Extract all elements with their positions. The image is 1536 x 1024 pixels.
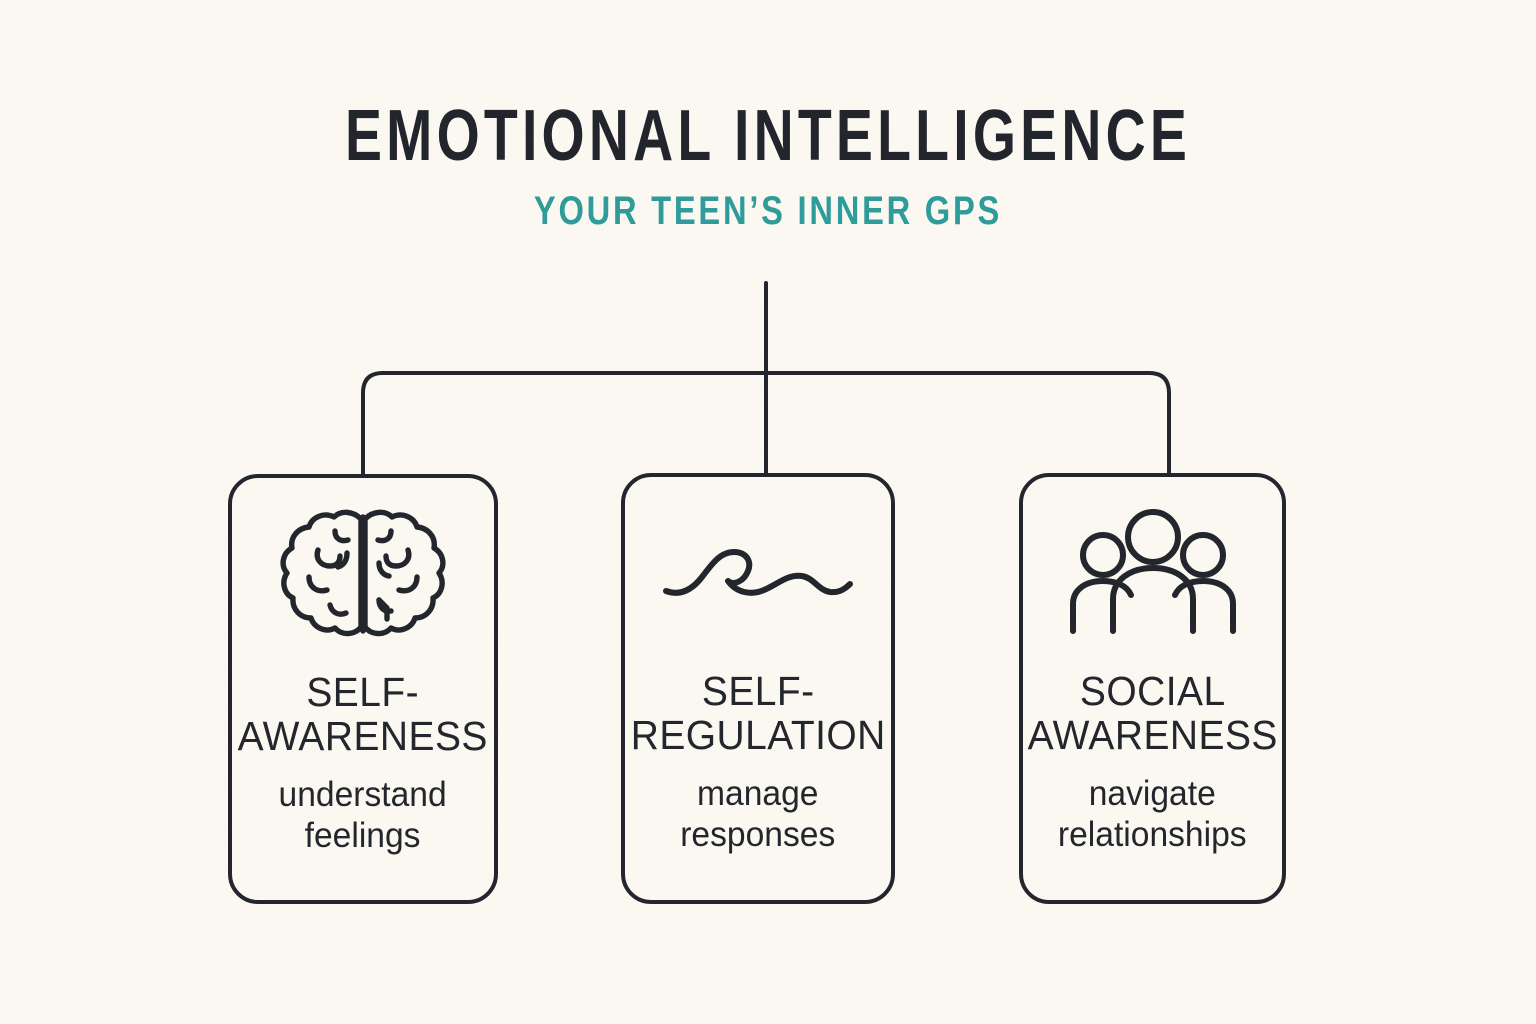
card-social-awareness[interactable]: SOCIAL AWARENESS navigate relationships	[1019, 473, 1286, 904]
card-heading: SELF- AWARENESS	[238, 670, 488, 758]
brain-icon	[275, 500, 451, 650]
card-description: manage responses	[680, 773, 835, 855]
people-group-icon	[1065, 499, 1241, 649]
card-description: navigate relationships	[1058, 773, 1247, 855]
wave-icon	[658, 499, 858, 649]
card-self-regulation[interactable]: SELF- REGULATION manage responses	[621, 473, 895, 904]
card-self-awareness[interactable]: SELF- AWARENESS understand feelings	[228, 474, 498, 904]
card-heading: SOCIAL AWARENESS	[1027, 669, 1277, 757]
card-description: understand feelings	[279, 774, 447, 856]
infographic-canvas: EMOTIONAL INTELLIGENCE YOUR TEEN’S INNER…	[0, 0, 1536, 1024]
card-heading: SELF- REGULATION	[630, 669, 885, 757]
